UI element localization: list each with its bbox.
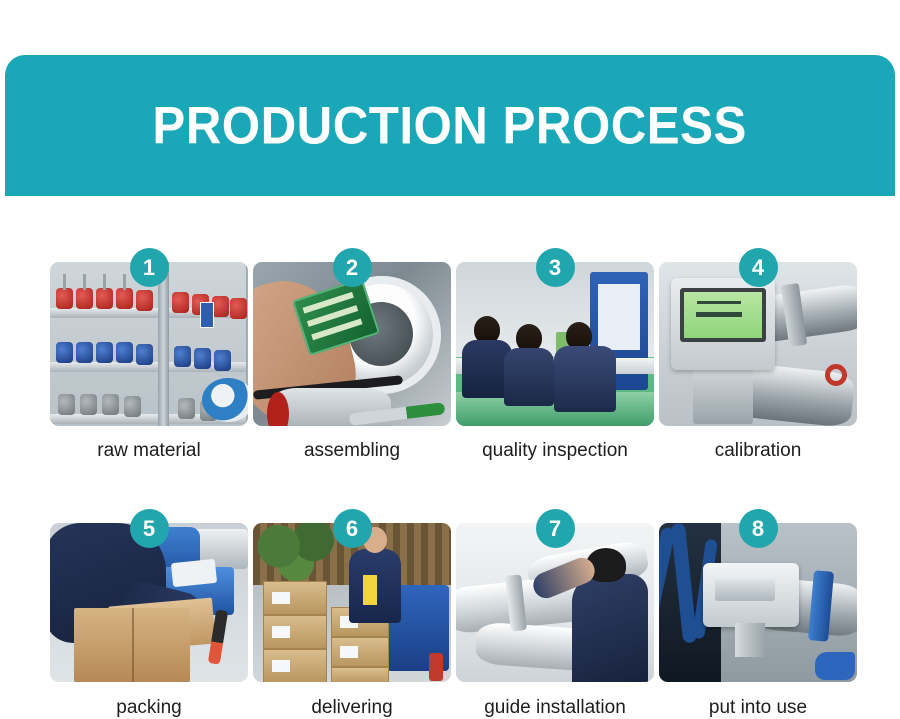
- page-title: PRODUCTION PROCESS: [5, 99, 895, 152]
- production-process-infographic: PRODUCTION PROCESS: [0, 0, 900, 719]
- process-step-6[interactable]: 6 delivering: [253, 509, 451, 719]
- step-6-caption: delivering: [253, 696, 451, 719]
- step-1-badge: 1: [130, 248, 169, 287]
- step-2-badge: 2: [333, 248, 372, 287]
- process-step-8[interactable]: 8 put into use: [659, 509, 857, 719]
- step-4-badge: 4: [739, 248, 778, 287]
- process-step-1[interactable]: 1 raw material: [50, 248, 248, 463]
- process-step-2[interactable]: 2 assembling: [253, 248, 451, 463]
- step-4-caption: calibration: [659, 439, 857, 463]
- step-8-caption: put into use: [659, 696, 857, 719]
- step-3-caption: quality inspection: [456, 439, 654, 463]
- step-3-badge: 3: [536, 248, 575, 287]
- step-5-badge: 5: [130, 509, 169, 548]
- step-8-badge: 8: [739, 509, 778, 548]
- step-7-caption: guide installation: [456, 696, 654, 719]
- process-step-4[interactable]: 4 calibration: [659, 248, 857, 463]
- step-2-caption: assembling: [253, 439, 451, 463]
- process-step-7[interactable]: 7 guide installation: [456, 509, 654, 719]
- step-5-caption: packing: [50, 696, 248, 719]
- page-title-text: PRODUCTION PROCESS: [153, 99, 747, 152]
- step-6-badge: 6: [333, 509, 372, 548]
- process-steps-grid: 1 raw material 2 assembling: [50, 248, 855, 719]
- process-steps-row-1: 1 raw material 2 assembling: [50, 248, 855, 463]
- step-7-badge: 7: [536, 509, 575, 548]
- step-1-caption: raw material: [50, 439, 248, 463]
- process-step-5[interactable]: 5 packing: [50, 509, 248, 719]
- process-step-3[interactable]: 3 quality inspection: [456, 248, 654, 463]
- header-banner: PRODUCTION PROCESS: [5, 55, 895, 196]
- process-steps-row-2: 5 packing: [50, 509, 855, 719]
